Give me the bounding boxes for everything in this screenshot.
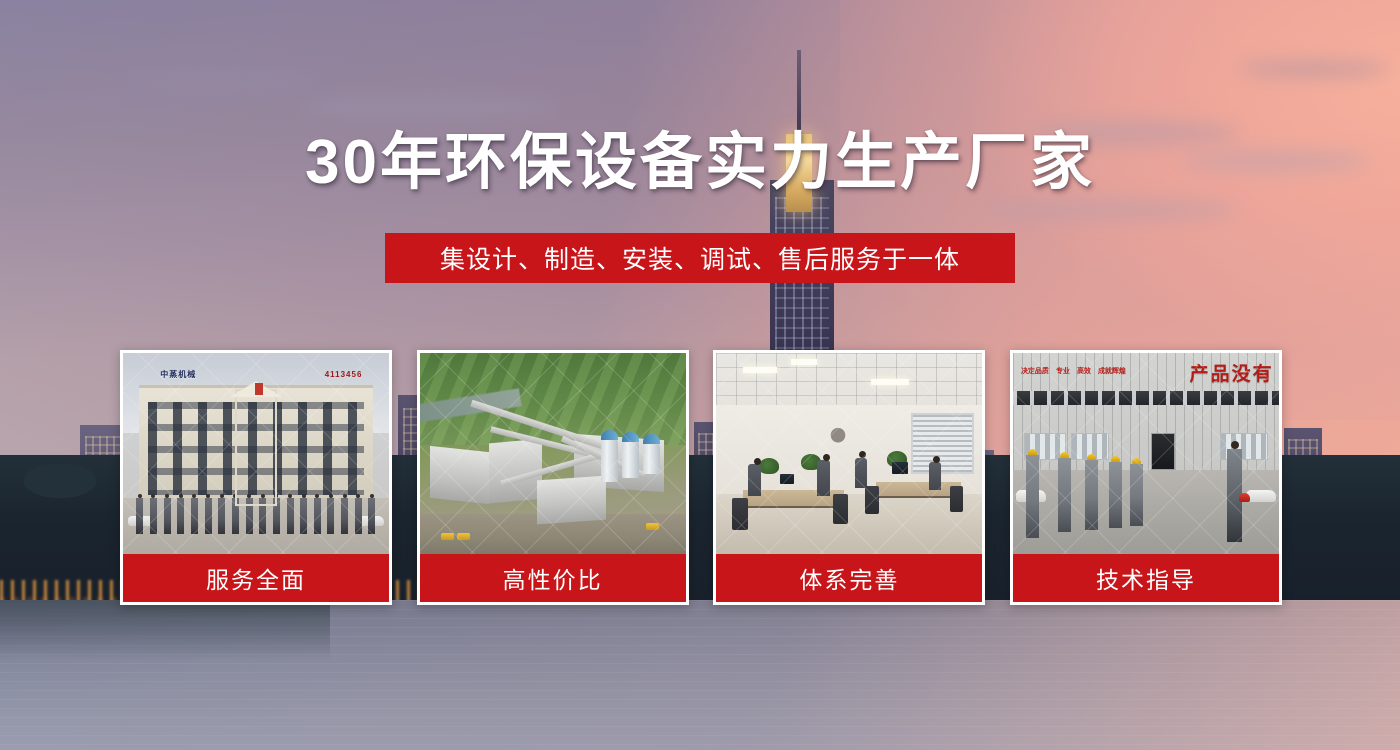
factory-slogan-text: 产品没有 — [1190, 359, 1274, 386]
feature-card[interactable]: 中蒸机械 4113456 — [120, 350, 392, 605]
page-title: 30年环保设备实力生产厂家 — [0, 132, 1400, 194]
skyscraper-antenna — [797, 50, 801, 136]
cloud-shape — [120, 70, 320, 90]
cloud-shape — [300, 95, 560, 119]
slogan-word: 成就辉煌 — [1098, 367, 1126, 376]
feature-card[interactable]: 产品没有 决定品质 专业 高效 成就辉煌 — [1010, 350, 1282, 605]
building-sign: 中蒸机械 — [160, 365, 266, 383]
card-label: 体系完善 — [716, 554, 982, 602]
building-sign-text: 中蒸机械 — [160, 369, 196, 380]
subtitle-text: 集设计、制造、安装、调试、售后服务于一体 — [440, 240, 960, 276]
card-label: 技术指导 — [1013, 554, 1279, 602]
card-photo-office-interior — [716, 353, 982, 554]
building-phone: 4113456 — [325, 365, 363, 383]
card-photo-factory-workers: 产品没有 决定品质 专业 高效 成就辉煌 — [1013, 353, 1279, 554]
card-photo-industrial-plant — [420, 353, 686, 554]
feature-card[interactable]: 高性价比 — [417, 350, 689, 605]
factory-slogan-small: 决定品质 专业 高效 成就辉煌 — [1021, 367, 1126, 376]
water-reflection — [0, 600, 330, 660]
slogan-word: 决定品质 — [1021, 367, 1049, 376]
slogan-word: 高效 — [1077, 367, 1091, 376]
card-label: 服务全面 — [123, 554, 389, 602]
slogan-word: 专业 — [1056, 367, 1070, 376]
hero-banner: 30年环保设备实力生产厂家 集设计、制造、安装、调试、售后服务于一体 中蒸机械 … — [0, 0, 1400, 750]
subtitle-banner: 集设计、制造、安装、调试、售后服务于一体 — [385, 233, 1015, 283]
supervisor-figure — [1227, 441, 1242, 542]
red-helmet — [1239, 493, 1250, 502]
cloud-shape — [1240, 60, 1390, 78]
building-phone-text: 4113456 — [325, 370, 363, 379]
card-label: 高性价比 — [420, 554, 686, 602]
feature-card[interactable]: 体系完善 — [713, 350, 985, 605]
feature-card-list: 中蒸机械 4113456 — [120, 350, 1282, 605]
card-photo-headquarters: 中蒸机械 4113456 — [123, 353, 389, 554]
